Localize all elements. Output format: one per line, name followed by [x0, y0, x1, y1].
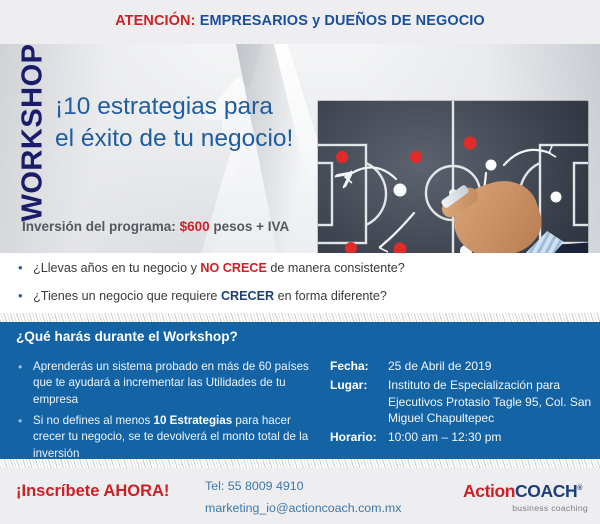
logo-coach-text: COACH [515, 481, 577, 501]
question-text-before: ¿Tienes un negocio que requiere [33, 289, 217, 303]
panel-bullet-text: Si no defines al menos 10 Estrategias pa… [33, 413, 316, 462]
chalkboard-image [318, 101, 588, 253]
question-highlight: CRECER [221, 289, 274, 303]
tactics-diagram-icon [318, 101, 588, 253]
header-attention-label: ATENCIÓN: [115, 13, 195, 29]
event-details-list: Fecha: 25 de Abril de 2019 Lugar: Instit… [330, 358, 595, 449]
registered-trademark-icon: ® [577, 485, 582, 492]
bullet-icon: • [18, 288, 23, 303]
price-line: Inversión del programa: $600 pesos + IVA [22, 219, 289, 234]
bullet-icon: • [18, 359, 22, 376]
email-link[interactable]: marketing_io@actioncoach.com.mx [205, 498, 401, 520]
panel-bullet-part1: Si no defines al menos [33, 414, 150, 427]
footer-section: ¡Inscríbete AHORA! Tel: 55 8009 4910 mar… [0, 468, 600, 524]
header-audience-label: EMPRESARIOS y DUEÑOS DE NEGOCIO [200, 13, 485, 29]
detail-value: 25 de Abril de 2019 [388, 358, 595, 374]
bullet-icon: • [18, 413, 22, 430]
question-text-after: en forma diferente? [278, 289, 387, 303]
phone-text[interactable]: Tel: 55 8009 4910 [205, 476, 401, 498]
panel-bullet: • Aprenderás un sistema probado en más d… [18, 359, 316, 408]
workshop-vertical-label: WORKSHOP [17, 44, 50, 228]
price-prefix: Inversión del programa: [22, 219, 176, 234]
contact-block: Tel: 55 8009 4910 marketing_io@actioncoa… [205, 476, 401, 519]
bullet-icon: • [18, 260, 23, 275]
detail-label: Horario: [330, 429, 386, 445]
questions-section: • ¿Llevas años en tu negocio y NO CRECE … [0, 253, 600, 313]
panel-bullet-part1: Aprenderás un sistema probado en más de … [33, 360, 309, 406]
hero-section: WORKSHOP ¡10 estrategias para el éxito d… [0, 44, 600, 253]
logo-action-text: Action [463, 481, 515, 501]
header-title: ATENCIÓN: EMPRESARIOS y DUEÑOS DE NEGOCI… [0, 13, 600, 29]
price-amount: $600 [180, 219, 210, 234]
question-text-before: ¿Llevas años en tu negocio y [33, 261, 197, 275]
cta-text[interactable]: ¡Inscríbete AHORA! [16, 482, 169, 501]
detail-label: Lugar: [330, 377, 386, 393]
panel-bullet-bold: 10 Estrategias [154, 414, 233, 427]
detail-row-fecha: Fecha: 25 de Abril de 2019 [330, 358, 595, 374]
logo-tagline: business coaching [463, 503, 588, 513]
hero-headline-line2: el éxito de tu negocio! [55, 123, 315, 155]
flyer-poster: ATENCIÓN: EMPRESARIOS y DUEÑOS DE NEGOCI… [0, 0, 600, 524]
question-row: • ¿Llevas años en tu negocio y NO CRECE … [18, 260, 405, 275]
detail-row-lugar: Lugar: Instituto de Especialización para… [330, 377, 595, 426]
actioncoach-logo: ActionCOACH® business coaching [463, 481, 588, 513]
logo-wordmark: ActionCOACH® [463, 481, 588, 502]
detail-row-horario: Horario: 10:00 am – 12:30 pm [330, 429, 595, 445]
header-banner: ATENCIÓN: EMPRESARIOS y DUEÑOS DE NEGOCI… [0, 0, 600, 44]
workshop-details-panel: ¿Qué harás durante el Workshop? • Aprend… [0, 322, 600, 459]
question-row: • ¿Tienes un negocio que requiere CRECER… [18, 288, 387, 303]
detail-value: Instituto de Especialización para Ejecut… [388, 377, 595, 426]
price-suffix: pesos + IVA [213, 219, 289, 234]
panel-title: ¿Qué harás durante el Workshop? [16, 329, 238, 344]
question-text-after: de manera consistente? [270, 261, 404, 275]
detail-label: Fecha: [330, 358, 386, 374]
panel-bullet-text: Aprenderás un sistema probado en más de … [33, 359, 316, 408]
hero-headline: ¡10 estrategias para el éxito de tu nego… [55, 91, 315, 156]
question-highlight: NO CRECE [200, 261, 266, 275]
hero-headline-line1: ¡10 estrategias para [55, 91, 315, 123]
panel-bullet: • Si no defines al menos 10 Estrategias … [18, 413, 316, 462]
detail-value: 10:00 am – 12:30 pm [388, 429, 595, 445]
